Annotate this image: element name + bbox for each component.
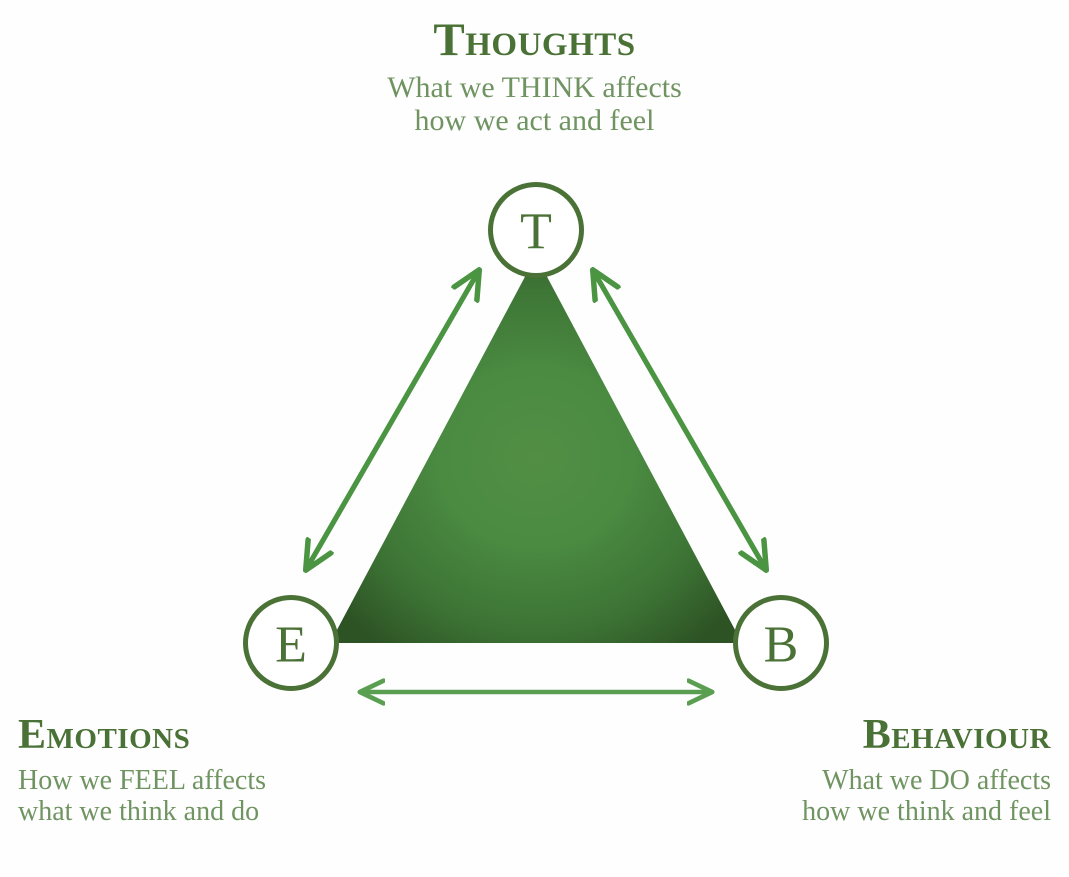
node-thoughts[interactable]: T (491, 185, 582, 276)
label-emotions-heading: Emotions (18, 712, 266, 759)
cbt-triangle-diagram: T E B Thoughts What we THINK affects how… (0, 0, 1069, 877)
node-emotions[interactable]: E (246, 598, 337, 689)
label-thoughts-subtitle: What we THINK affects how we act and fee… (0, 71, 1069, 138)
node-emotions-letter: E (275, 617, 307, 674)
label-behaviour-subtitle-line1: What we DO affects (802, 765, 1051, 796)
label-emotions-subtitle: How we FEEL affects what we think and do (18, 765, 266, 828)
label-emotions-subtitle-line2: what we think and do (18, 796, 266, 827)
label-behaviour: Behaviour What we DO affects how we thin… (802, 712, 1051, 828)
triangle-shape (330, 256, 742, 643)
label-emotions-subtitle-line1: How we FEEL affects (18, 765, 266, 796)
node-thoughts-letter: T (520, 204, 552, 261)
label-thoughts-subtitle-line2: how we act and feel (0, 104, 1069, 138)
label-thoughts-subtitle-line1: What we THINK affects (0, 71, 1069, 105)
label-behaviour-heading: Behaviour (802, 712, 1051, 759)
label-behaviour-subtitle: What we DO affects how we think and feel (802, 765, 1051, 828)
label-emotions: Emotions How we FEEL affects what we thi… (18, 712, 266, 828)
label-behaviour-subtitle-line2: how we think and feel (802, 796, 1051, 827)
label-thoughts-heading: Thoughts (0, 14, 1069, 67)
label-thoughts: Thoughts What we THINK affects how we ac… (0, 14, 1069, 138)
node-behaviour[interactable]: B (736, 598, 827, 689)
node-behaviour-letter: B (764, 617, 799, 674)
